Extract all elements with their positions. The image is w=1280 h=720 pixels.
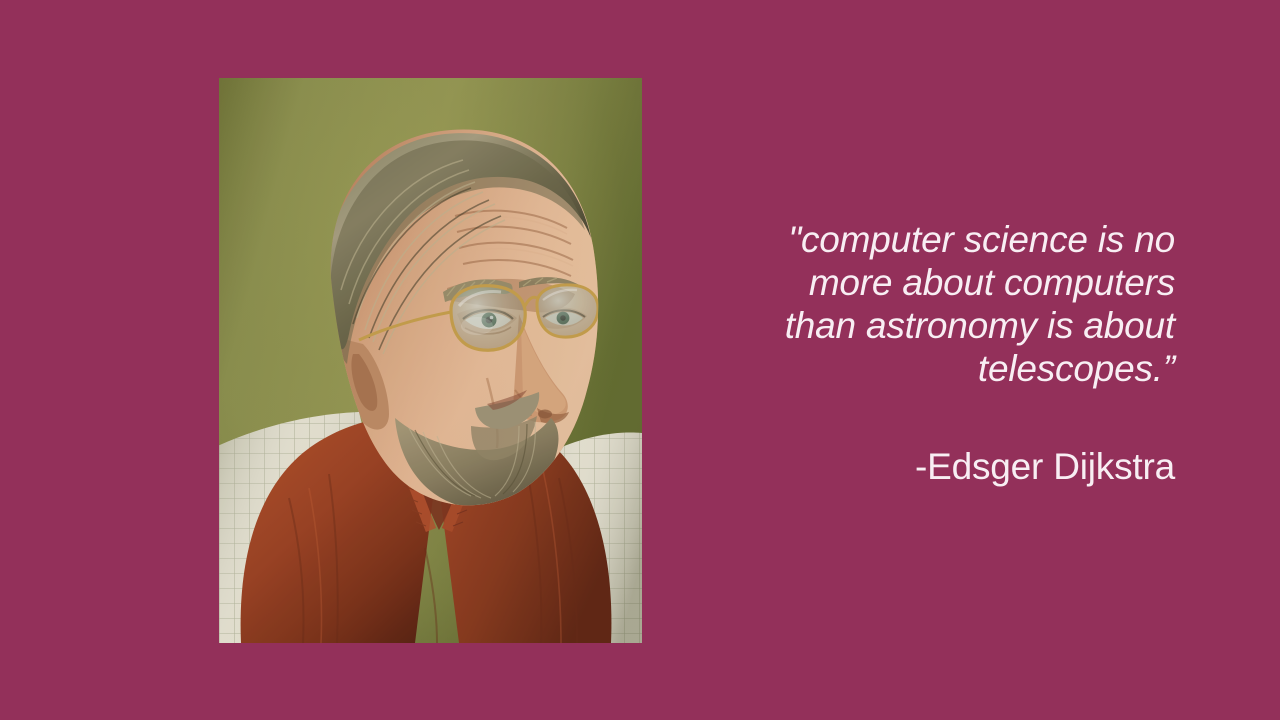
quote-slide: "computer science is no more about compu… (0, 0, 1280, 720)
quote-line-4: telescopes.” (690, 347, 1175, 390)
quote-attribution: -Edsger Dijkstra (690, 445, 1175, 489)
portrait-photo (219, 78, 642, 643)
portrait-illustration (219, 78, 642, 643)
quote-line-2: more about computers (690, 261, 1175, 304)
quote-text: "computer science is no more about compu… (690, 218, 1175, 390)
quote-line-3: than astronomy is about (690, 304, 1175, 347)
quote-line-1: "computer science is no (690, 218, 1175, 261)
